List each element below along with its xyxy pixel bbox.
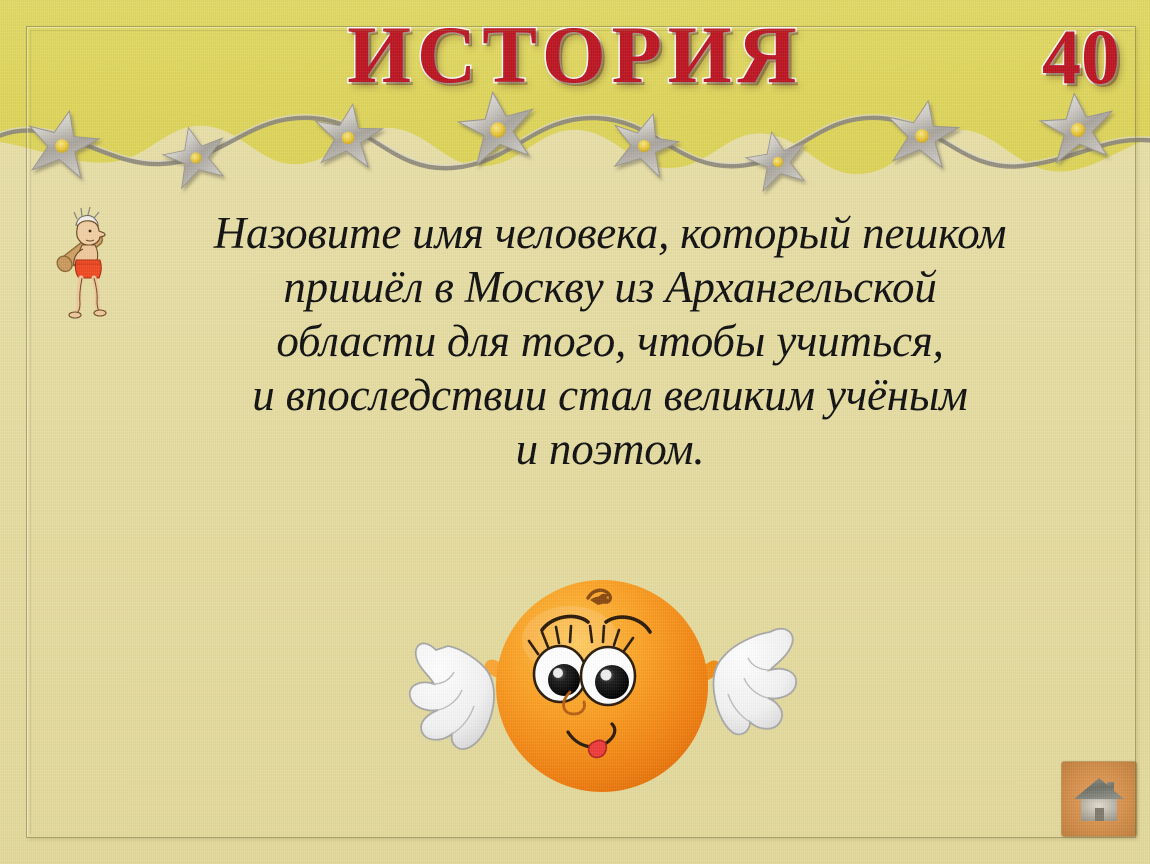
star-icon xyxy=(882,95,963,171)
question-line: пришёл в Москву из Архангельской xyxy=(110,260,1110,314)
star-icon xyxy=(742,126,813,193)
question-line: Назовите имя человека, который пешком xyxy=(110,206,1110,260)
question-line: области для того, чтобы учиться, xyxy=(110,314,1110,368)
quiz-slide: ИСТОРИЯ 40 xyxy=(0,0,1150,864)
star-icon xyxy=(310,100,385,171)
star-chain-divider xyxy=(0,88,1150,196)
home-icon xyxy=(1072,774,1126,824)
question-line: и поэтом. xyxy=(110,422,1110,476)
question-line: и впоследствии стал великим учёным xyxy=(110,368,1110,422)
question-text: Назовите имя человека, который пешком пр… xyxy=(110,206,1110,476)
star-icon xyxy=(604,105,684,182)
star-icon xyxy=(158,120,232,190)
orange-smiley-face-with-hands-icon xyxy=(392,572,812,804)
star-icon xyxy=(21,104,103,182)
glove-left-icon xyxy=(410,643,494,749)
home-button[interactable] xyxy=(1062,762,1136,836)
glove-right-icon xyxy=(713,629,796,735)
